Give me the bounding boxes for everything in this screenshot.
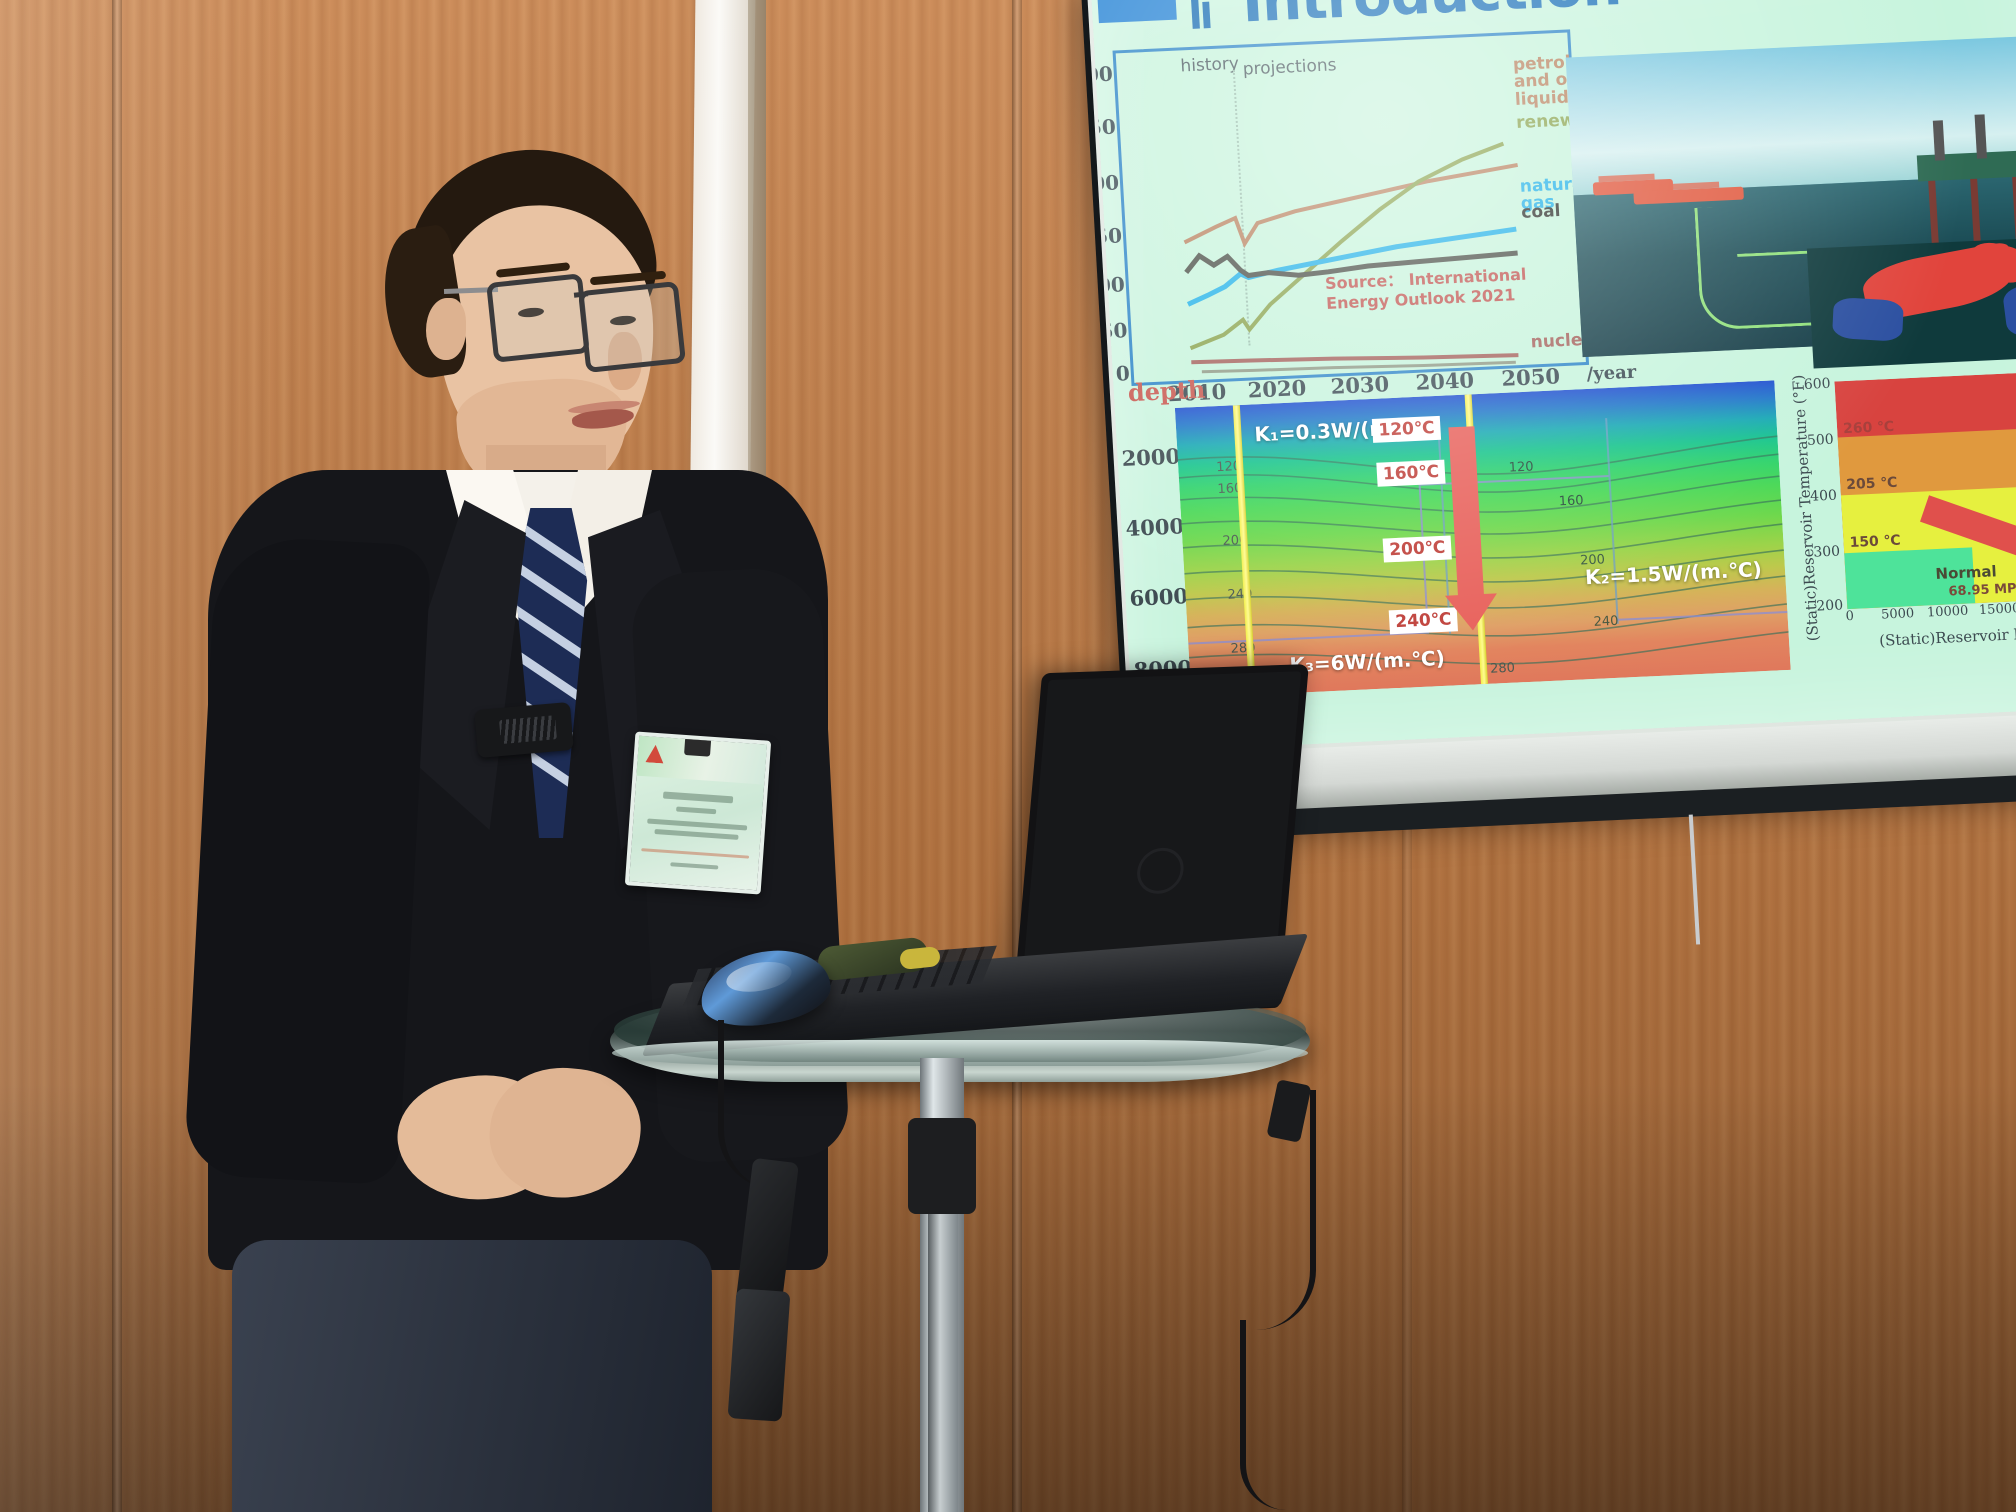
hpht-x-axis-title: (Static)Reservoir Pressure (psi) [1879, 621, 2016, 650]
formation-render [1807, 236, 2016, 368]
isotherm-label: 240 [1593, 614, 1619, 630]
hpht-y-tick: 400 [1810, 488, 1838, 505]
microphone-grill [499, 715, 557, 744]
hpht-y-tick: 500 [1807, 432, 1835, 449]
jacket-sleeve-left [183, 535, 431, 1185]
hpht-x-tick: 10000 [1927, 604, 1969, 621]
formation-layer [1832, 297, 1904, 342]
conference-name-badge [625, 731, 771, 894]
badge-text-line [670, 862, 718, 869]
hpht-y-tick: 600 [1803, 376, 1831, 393]
thermal-profile-chart: 120 160 200 240 280 280 120 160 200 240 … [1175, 380, 1791, 697]
badge-text-line [663, 792, 733, 804]
power-cable-lower [1240, 1320, 1286, 1510]
hpht-x-tick: 5000 [1881, 606, 1915, 623]
temperature-badge-120: 120℃ [1372, 416, 1441, 443]
platform-deck [1917, 150, 2016, 181]
badge-clip [684, 737, 711, 757]
badge-divider [641, 848, 749, 859]
hpht-threshold-150: 150 ℃ [1849, 533, 1901, 551]
hpht-x-tick: 15000 [1979, 601, 2016, 618]
presentation-room-photo: Iı Introduction 300 250 200 150 100 50 0… [0, 0, 2016, 1512]
series-label-coal: coal [1521, 203, 1561, 222]
ear [426, 298, 466, 360]
table-height-collar[interactable] [908, 1118, 976, 1214]
hpht-threshold-260: 260 ℃ [1843, 419, 1895, 437]
x-tick: 2020 [1247, 375, 1307, 403]
temperature-badge-200: 200℃ [1383, 535, 1452, 562]
title-accent-chip [1096, 0, 1177, 23]
hpht-chart: (Static)Reservoir Temperature (°F) 600 5… [1804, 365, 2016, 678]
isotherm-label: 120 [1508, 460, 1534, 476]
hpht-x-tick: 0 [1845, 609, 1854, 624]
title-bullet-icon: Iı [1187, 0, 1212, 41]
energy-chart: 300 250 200 150 100 50 0 history project… [1113, 29, 1590, 386]
glasses-lens-left [486, 273, 590, 363]
isotherm-label: 280 [1490, 661, 1516, 677]
hpht-pressure-label-68: 68.95 MPa [1948, 581, 2016, 600]
presentation-slide: Iı Introduction 300 250 200 150 100 50 0… [1091, 0, 2016, 752]
badge-text-line [676, 806, 716, 814]
mouse-highlight [724, 957, 794, 996]
hpht-zone-label-normal: Normal [1935, 562, 1997, 583]
depth-axis-title: depth [1127, 375, 1206, 408]
x-tick: 2050 [1501, 363, 1561, 391]
badge-text-line [654, 829, 738, 840]
isotherm-label: 160 [1558, 493, 1584, 509]
glasses-lens-right [578, 281, 686, 373]
temperature-badge-160: 160℃ [1376, 460, 1445, 487]
x-tick: 2030 [1330, 371, 1390, 399]
table-pedestal-lower [928, 1214, 958, 1512]
hpht-y-tick: 300 [1813, 543, 1841, 560]
lapel-microphone [474, 702, 574, 758]
hpht-y-tick: 200 [1816, 597, 1844, 614]
x-tick: 2040 [1415, 367, 1475, 395]
formation-layer [2002, 279, 2016, 338]
x-axis-unit: /year [1586, 362, 1637, 385]
power-adapter-brick [728, 1288, 791, 1421]
hpht-threshold-205: 205 ℃ [1846, 475, 1898, 493]
trousers-shading [232, 1240, 712, 1512]
